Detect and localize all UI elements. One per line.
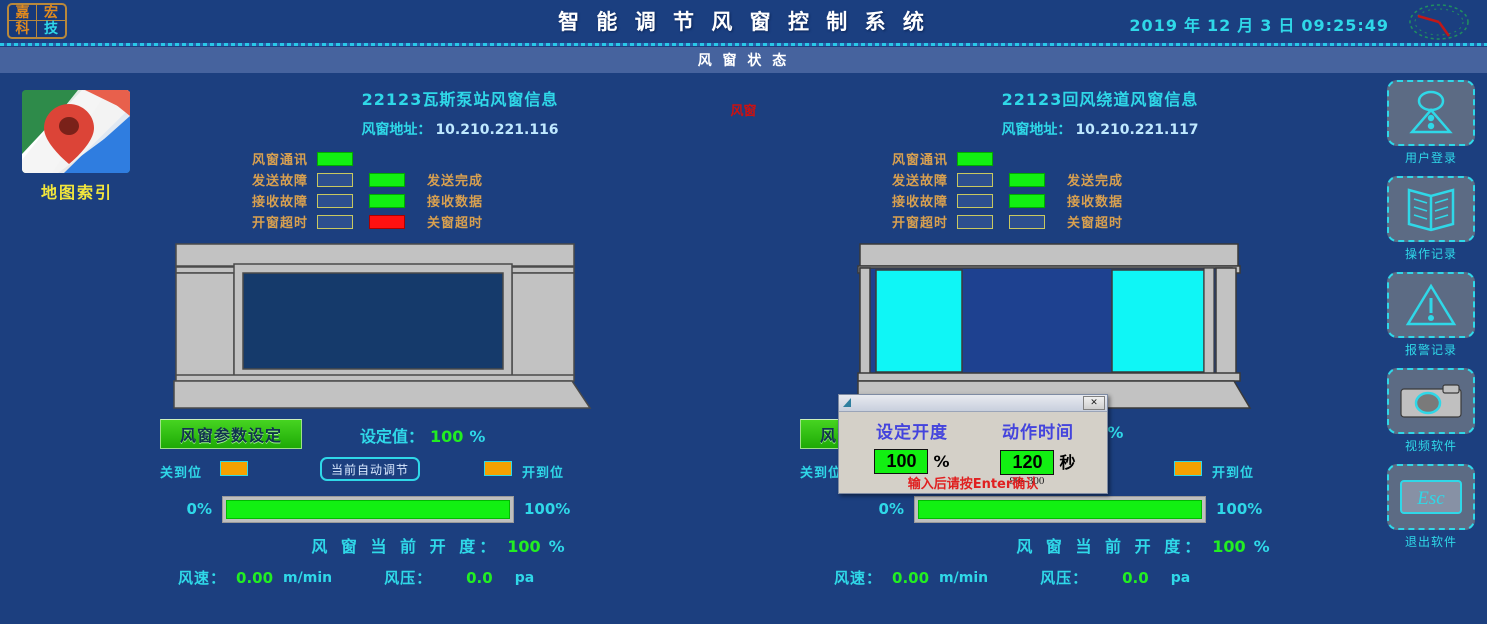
dialog-field2-title: 动作时间 (977, 418, 1099, 443)
led-row: 接收故障 接收数据 (230, 190, 770, 211)
led-indicator-secondary (1009, 215, 1045, 229)
video-software-button[interactable] (1387, 368, 1475, 434)
operation-log-button[interactable] (1387, 176, 1475, 242)
led-label-secondary: 发送完成 (427, 170, 483, 189)
opened-position-led (484, 461, 512, 476)
led-label: 开窗超时 (230, 212, 308, 231)
current-degree-unit: % (549, 537, 569, 556)
led-indicator-secondary (1009, 194, 1045, 208)
current-degree-right: 风 窗 当 前 开 度：100% (790, 533, 1410, 557)
panel-left-address-label: 风窗地址： (361, 122, 431, 138)
panel-right-title: 22123回风绕道风窗信息 (790, 86, 1410, 110)
led-label: 开窗超时 (870, 212, 948, 231)
led-label: 接收故障 (870, 191, 948, 210)
alarm-log-button[interactable] (1387, 272, 1475, 338)
setpoint-display-left: 设定值：100% (360, 423, 485, 447)
date-month: 12 (1207, 16, 1231, 35)
led-row: 发送故障 发送完成 (870, 169, 1410, 190)
current-degree-label: 风 窗 当 前 开 度： (1016, 537, 1204, 556)
closed-position-led (220, 461, 248, 476)
date-day: 3 (1260, 16, 1272, 35)
progress-bar-fill (226, 500, 510, 519)
sidebar-label-video-software: 视频软件 (1383, 437, 1479, 454)
map-index-label: 地图索引 (22, 179, 132, 203)
setpoint-value: 100 (430, 427, 463, 446)
led-label-secondary: 接收数据 (427, 191, 483, 210)
wind-speed-unit: m/min (283, 570, 332, 586)
date-day-unit: 日 (1278, 16, 1295, 35)
clock-time: 09:25:49 (1301, 16, 1389, 35)
closed-position-label: 关到位 (160, 462, 202, 481)
header-divider (0, 43, 1487, 46)
led-label-secondary: 接收数据 (1067, 191, 1123, 210)
setpoint-unit: % (1107, 423, 1123, 442)
progress-bar-right[interactable] (914, 496, 1206, 523)
sidebar-label-exit: 退出软件 (1383, 533, 1479, 550)
led-row: 发送故障 发送完成 (230, 169, 770, 190)
exit-software-button[interactable]: Esc (1387, 464, 1475, 530)
sidebar-label-alarm-log: 报警记录 (1383, 341, 1479, 358)
measurements-right: 风速： 0.00 m/min 风压： 0.0 pa (790, 567, 1410, 588)
sidebar-item-user-login[interactable]: 用户登录 (1383, 80, 1479, 166)
led-indicator (957, 194, 993, 208)
led-indicator-secondary (369, 194, 405, 208)
led-indicator-secondary (369, 215, 405, 229)
current-degree-unit: % (1254, 537, 1274, 556)
wind-pressure-label: 风压： (384, 567, 432, 588)
wind-speed-label: 风速： (834, 567, 882, 588)
param-setting-button-left[interactable]: 风窗参数设定 (160, 419, 302, 449)
led-indicator (957, 152, 993, 166)
panel-left-controls-row2: 关到位 当前自动调节 开到位 (150, 459, 770, 483)
closed-position-label: 关到位 (800, 462, 842, 481)
panel-left-address: 风窗地址：10.210.221.116 (150, 119, 770, 139)
dialog-close-button[interactable]: ✕ (1083, 396, 1105, 410)
opened-position-label: 开到位 (522, 462, 564, 481)
panel-right-led-group: 风窗通讯 发送故障 发送完成 接收故障 接收数据 开窗超时 关窗超时 (790, 148, 1410, 232)
sidebar-item-exit[interactable]: Esc 退出软件 (1383, 464, 1479, 550)
led-indicator (317, 152, 353, 166)
led-label-secondary: 关窗超时 (427, 212, 483, 231)
panel-right-address-label: 风窗地址： (1001, 122, 1071, 138)
dialog-field-opening: 设定开度 100% (853, 418, 971, 474)
esc-key-icon: Esc (1397, 475, 1465, 519)
sidebar-label-user-login: 用户登录 (1383, 149, 1479, 166)
panel-left-controls-row1: 风窗参数设定 设定值：100% (150, 419, 770, 451)
led-label-secondary: 关窗超时 (1067, 212, 1123, 231)
window-graphic-left (150, 242, 770, 407)
wind-speed-value: 0.00 (236, 569, 273, 587)
date-month-unit: 月 (1237, 16, 1254, 35)
panel-right-progress-row: 0% 100% (790, 495, 1410, 523)
measurements-left: 风速： 0.00 m/min 风压： 0.0 pa (150, 567, 770, 588)
led-label: 风窗通讯 (870, 149, 948, 168)
datetime-display: 2019年12月3日09:25:49 (1126, 12, 1392, 36)
led-row: 接收故障 接收数据 (870, 190, 1410, 211)
wind-speed-label: 风速： (178, 567, 226, 588)
led-indicator (957, 173, 993, 187)
progress-max-label: 100% (524, 500, 570, 518)
panel-left-address-value: 10.210.221.116 (435, 122, 558, 138)
led-indicator (317, 215, 353, 229)
current-degree-label: 风 窗 当 前 开 度： (311, 537, 499, 556)
led-label: 风窗通讯 (230, 149, 308, 168)
wind-pressure-label: 风压： (1040, 567, 1088, 588)
window-graphic-right (790, 242, 1410, 407)
application-root: 嘉 宏 科 技 智 能 调 节 风 窗 控 制 系 统 2019年12月3日09… (0, 0, 1487, 624)
led-indicator (317, 173, 353, 187)
led-indicator (957, 215, 993, 229)
panel-right-address-value: 10.210.221.117 (1075, 122, 1198, 138)
dialog-field2-unit: 秒 (1059, 453, 1075, 472)
clock-gauge-icon (1401, 2, 1477, 42)
dialog-body: 设定开度 100% 动作时间 120秒 90--300 输入后请按Enter确认 (839, 412, 1107, 494)
panel-left: 22123瓦斯泵站风窗信息 风窗地址：10.210.221.116 风窗通讯 发… (150, 86, 770, 606)
wind-speed-unit: m/min (939, 570, 988, 586)
led-row: 风窗通讯 (870, 148, 1410, 169)
led-indicator-secondary (369, 173, 405, 187)
dialog-titlebar[interactable]: ✕ (839, 395, 1107, 412)
progress-bar-fill (918, 500, 1202, 519)
panel-left-title: 22123瓦斯泵站风窗信息 (150, 86, 770, 110)
wind-pressure-unit: pa (515, 570, 534, 586)
user-login-icon (1404, 90, 1458, 136)
current-degree-left: 风 窗 当 前 开 度：100% (150, 533, 770, 557)
led-indicator (317, 194, 353, 208)
sidebar-item-operation-log[interactable]: 操作记录 (1383, 176, 1479, 262)
setpoint-label: 设定值： (360, 427, 424, 446)
sidebar-item-alarm-log[interactable]: 报警记录 (1383, 272, 1479, 358)
panel-right: 22123回风绕道风窗信息 风窗地址：10.210.221.117 风窗通讯 发… (790, 86, 1410, 606)
sidebar-item-video-software[interactable]: 视频软件 (1383, 368, 1479, 454)
progress-max-label: 100% (1216, 500, 1262, 518)
status-strip: 风 窗 状 态 (0, 47, 1487, 73)
map-index-launcher[interactable]: 地图索引 (22, 90, 132, 203)
right-sidebar: 用户登录 操作记录 (1383, 80, 1479, 560)
wind-pressure-value: 0.0 (1122, 569, 1149, 587)
date-year-unit: 年 (1184, 16, 1201, 35)
led-label: 接收故障 (230, 191, 308, 210)
svg-text:Esc: Esc (1416, 488, 1445, 509)
current-degree-value: 100 (1212, 537, 1245, 556)
auto-mode-badge-left[interactable]: 当前自动调节 (320, 457, 420, 481)
wind-pressure-unit: pa (1171, 570, 1190, 586)
progress-min-label: 0% (150, 500, 212, 518)
led-row: 开窗超时 关窗超时 (870, 211, 1410, 232)
dialog-enter-hint: 输入后请按Enter确认 (839, 473, 1107, 492)
sidebar-label-operation-log: 操作记录 (1383, 245, 1479, 262)
led-row: 风窗通讯 (230, 148, 770, 169)
map-pin-icon (22, 90, 130, 173)
led-label-secondary: 发送完成 (1067, 170, 1123, 189)
date-year: 2019 (1129, 16, 1178, 35)
panel-left-progress-row: 0% 100% (150, 495, 770, 523)
camera-icon (1398, 381, 1464, 421)
dialog-field1-unit: % (933, 452, 949, 471)
user-login-button[interactable] (1387, 80, 1475, 146)
warning-triangle-icon (1404, 282, 1458, 328)
dialog-field1-title: 设定开度 (853, 418, 971, 443)
status-strip-label: 风 窗 状 态 (698, 50, 790, 70)
led-row: 开窗超时 关窗超时 (230, 211, 770, 232)
parameter-dialog[interactable]: ✕ 设定开度 100% 动作时间 120秒 90--300 输入后请按Enter… (838, 394, 1108, 494)
opened-position-led (1174, 461, 1202, 476)
wind-pressure-value: 0.0 (466, 569, 493, 587)
panel-left-led-group: 风窗通讯 发送故障 发送完成 接收故障 接收数据 开窗超时 关窗超时 (150, 148, 770, 232)
dialog-app-icon (843, 398, 851, 407)
panel-right-address: 风窗地址：10.210.221.117 (790, 119, 1410, 139)
wind-speed-value: 0.00 (892, 569, 929, 587)
progress-bar-left[interactable] (222, 496, 514, 523)
opened-position-label: 开到位 (1212, 462, 1254, 481)
setpoint-unit: % (469, 427, 485, 446)
led-label: 发送故障 (230, 170, 308, 189)
opening-degree-input[interactable]: 100 (874, 449, 928, 474)
top-bar: 嘉 宏 科 技 智 能 调 节 风 窗 控 制 系 统 2019年12月3日09… (0, 0, 1487, 45)
action-time-input[interactable]: 120 (1000, 450, 1054, 475)
progress-min-label: 0% (842, 500, 904, 518)
led-label: 发送故障 (870, 170, 948, 189)
book-record-icon (1403, 186, 1459, 232)
led-indicator-secondary (1009, 173, 1045, 187)
current-degree-value: 100 (507, 537, 540, 556)
